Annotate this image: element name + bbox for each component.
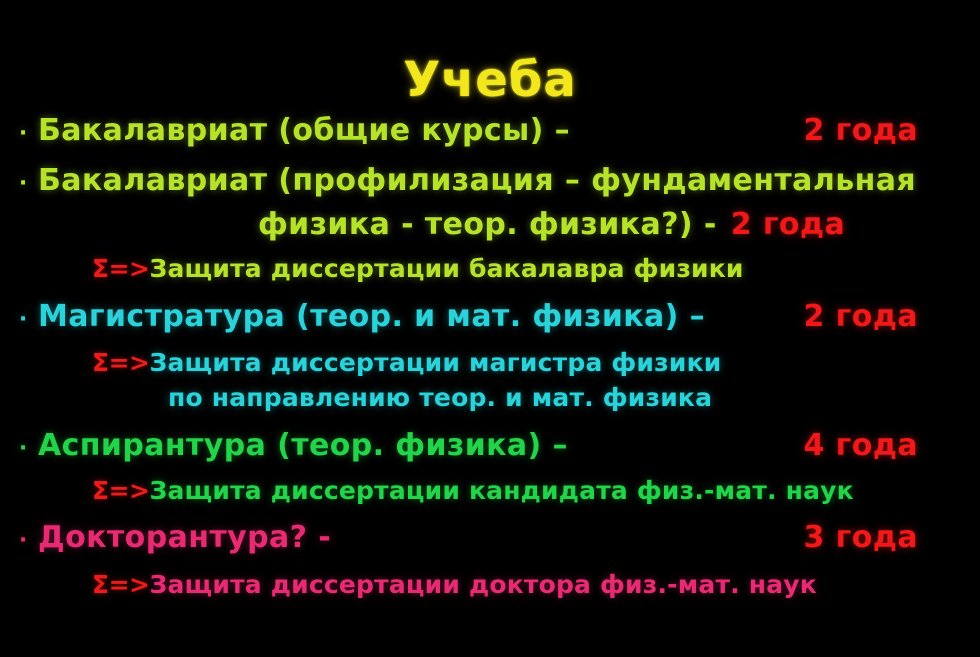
sub-item: Σ=> Защита диссертации доктора физ.-мат.… (0, 567, 980, 602)
list-item-label: Бакалавриат (профилизация – фундаменталь… (38, 160, 980, 201)
list-item-continuation: физика - теор. физика?) - 2 года (0, 204, 980, 245)
list-item-label: Магистратура (теор. и мат. физика) – (38, 296, 804, 337)
list-item: · Бакалавриат (общие курсы) – 2 года (0, 110, 980, 154)
sub-item-label: Защита диссертации магистра физики (149, 345, 721, 380)
bullet-icon: · (8, 163, 38, 204)
list-item-duration: 2 года (804, 110, 980, 151)
list-item-duration: 2 года (804, 296, 980, 337)
sub-item-label: Защита диссертации бакалавра физики (149, 251, 743, 286)
list-item-duration: 3 года (804, 517, 980, 558)
list-item: · Магистратура (теор. и мат. физика) – 2… (0, 296, 980, 340)
bullet-icon: · (8, 520, 38, 561)
sigma-arrow-icon: Σ=> (92, 345, 149, 380)
sub-item-continuation: по направлению теор. и мат. физика (0, 380, 980, 415)
list-item-label: Аспирантура (теор. физика) – (38, 425, 804, 466)
bullet-icon: · (8, 113, 38, 154)
content-list: · Бакалавриат (общие курсы) – 2 года · Б… (0, 110, 980, 602)
sigma-arrow-icon: Σ=> (92, 251, 149, 286)
sub-item: Σ=> Защита диссертации магистра физики (0, 345, 980, 380)
sub-item-label: Защита диссертации кандидата физ.-мат. н… (149, 473, 853, 508)
page-title: Учеба (0, 52, 980, 108)
sigma-arrow-icon: Σ=> (92, 473, 149, 508)
list-item: · Бакалавриат (профилизация – фундамента… (0, 160, 980, 204)
list-item-continuation-label: физика - теор. физика?) - (258, 204, 717, 245)
bullet-icon: · (8, 299, 38, 340)
sigma-arrow-icon: Σ=> (92, 567, 149, 602)
list-item: · Аспирантура (теор. физика) – 4 года (0, 425, 980, 469)
list-item-label: Докторантура? - (38, 517, 804, 558)
sub-item: Σ=> Защита диссертации бакалавра физики (0, 251, 980, 286)
sub-item: Σ=> Защита диссертации кандидата физ.-ма… (0, 473, 980, 508)
slide: Учеба · Бакалавриат (общие курсы) – 2 го… (0, 0, 980, 657)
bullet-icon: · (8, 428, 38, 469)
list-item-duration: 2 года (731, 204, 845, 245)
list-item-label: Бакалавриат (общие курсы) – (38, 110, 804, 151)
list-item-duration: 4 года (804, 425, 980, 466)
sub-item-label: Защита диссертации доктора физ.-мат. нау… (149, 567, 816, 602)
list-item: · Докторантура? - 3 года (0, 517, 980, 561)
